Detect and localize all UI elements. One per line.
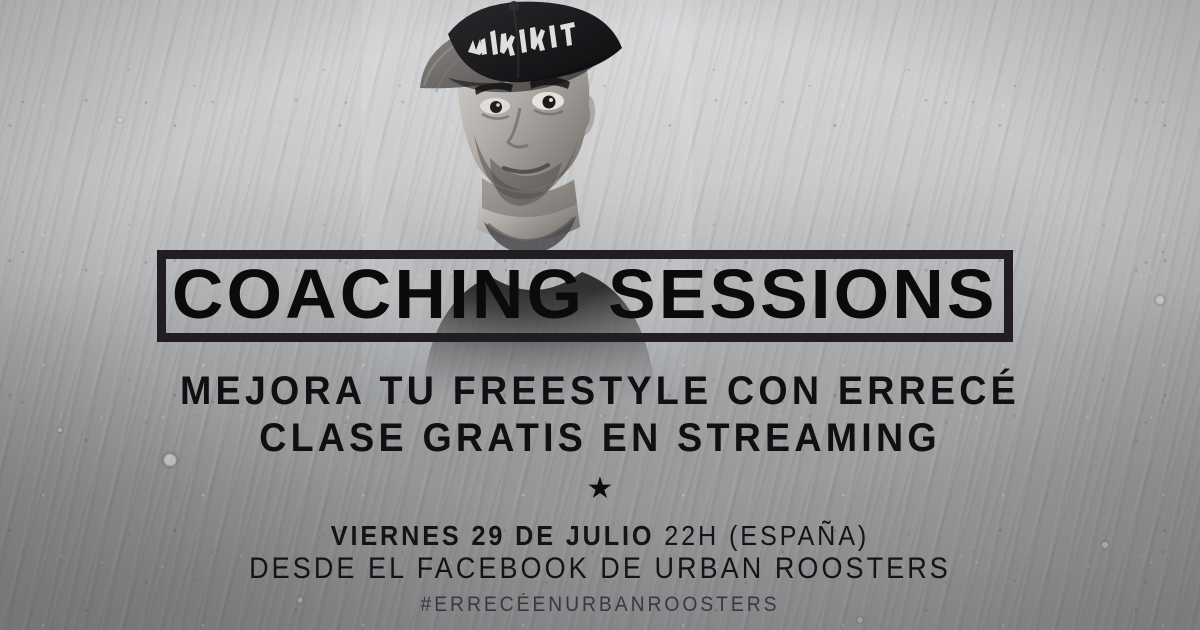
- event-platform: DESDE EL FACEBOOK DE URBAN ROOSTERS: [60, 552, 1140, 586]
- title-frame: COACHING SESSIONS: [157, 250, 1013, 342]
- star-divider-icon: ★: [0, 474, 1200, 504]
- event-date-line: VIERNES 29 DE JULIO 22H (ESPAÑA): [60, 519, 1140, 552]
- subtitle-block: MEJORA TU FREESTYLE CON ERRECÉ CLASE GRA…: [0, 368, 1200, 462]
- page-title: COACHING SESSIONS: [172, 259, 998, 329]
- event-details-block: VIERNES 29 DE JULIO 22H (ESPAÑA) DESDE E…: [0, 519, 1200, 617]
- poster-canvas: COACHING SESSIONS MEJORA TU FREESTYLE CO…: [0, 0, 1200, 630]
- subtitle-line-1: MEJORA TU FREESTYLE CON ERRECÉ: [36, 368, 1164, 415]
- event-time: 22H (ESPAÑA): [664, 520, 869, 551]
- event-hashtag: #ERRECÉENURBANROOSTERS: [48, 592, 1152, 617]
- subtitle-line-2: CLASE GRATIS EN STREAMING: [36, 415, 1164, 462]
- event-date: VIERNES 29 DE JULIO: [331, 520, 655, 551]
